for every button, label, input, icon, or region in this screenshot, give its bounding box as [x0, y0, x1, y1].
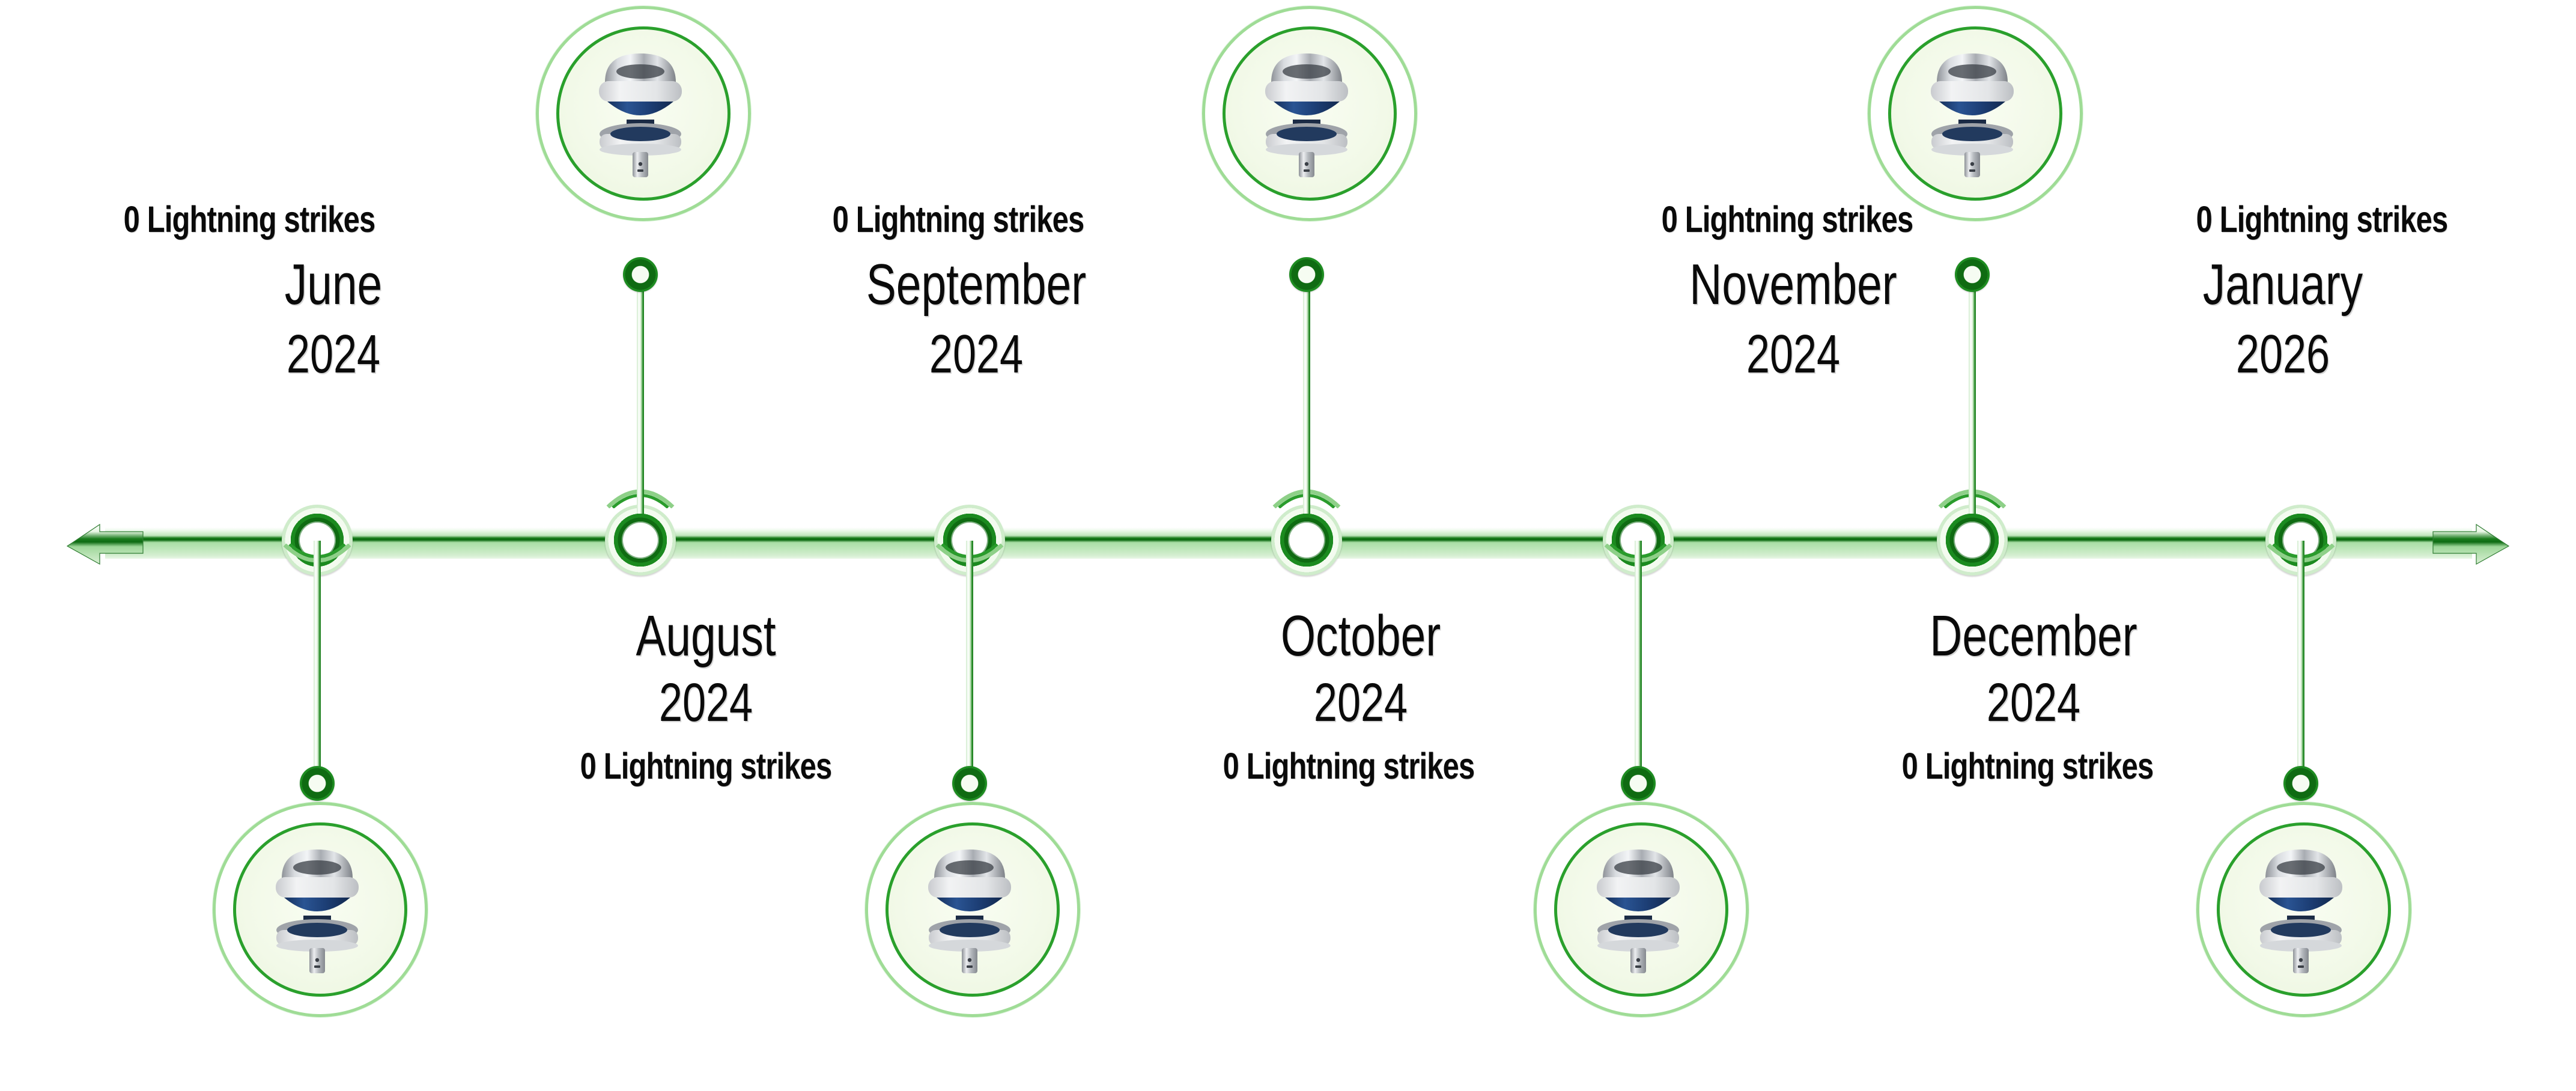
device-badge-jun-2024[interactable]: [213, 802, 422, 1011]
lightning-sensor-device-icon: [583, 44, 697, 177]
timeline-node-aug-2024[interactable]: [605, 505, 676, 576]
month-label-jun-2024: June: [73, 255, 594, 314]
connector-stem-aug-2024: [637, 273, 644, 514]
year-label-nov-2024: 2024: [1524, 327, 2063, 383]
lightning-sensor-device-icon: [1250, 44, 1364, 177]
connector-stem-nov-2024: [1635, 541, 1642, 781]
year-label-dec-2024: 2024: [1694, 676, 2374, 731]
month-label-aug-2024: August: [446, 607, 966, 666]
lightning-sensor-device-icon: [2244, 840, 2358, 973]
strikes-label-sep-2024: 0 Lightning strikes: [682, 198, 1235, 240]
year-label-sep-2024: 2024: [707, 327, 1246, 383]
timeline-node-oct-2024[interactable]: [1271, 505, 1342, 576]
lightning-sensor-device-icon: [1915, 44, 2029, 177]
device-badge-jan-2026[interactable]: [2196, 802, 2405, 1011]
connector-stem-jan-2026: [2297, 541, 2304, 781]
connector-stem-sep-2024: [966, 541, 973, 781]
connector-stem-oct-2024: [1303, 273, 1310, 514]
month-label-dec-2024: December: [1694, 607, 2374, 666]
strikes-label-oct-2024: 0 Lightning strikes: [1082, 745, 1615, 787]
connector-ring-oct-2024: [1289, 257, 1324, 292]
strikes-label-jan-2026: 0 Lightning strikes: [2113, 198, 2531, 240]
connector-ring-jan-2026: [2283, 766, 2318, 801]
year-label-aug-2024: 2024: [446, 676, 966, 731]
lightning-sensor-device-icon: [913, 840, 1027, 973]
month-label-jan-2026: January: [2049, 255, 2517, 314]
connector-ring-jun-2024: [300, 766, 335, 801]
strikes-label-aug-2024: 0 Lightning strikes: [439, 745, 973, 787]
lightning-sensor-device-icon: [260, 840, 374, 973]
timeline-infographic: 0 Lightning strikes June 2024: [0, 0, 2576, 1091]
device-badge-aug-2024[interactable]: [536, 6, 745, 215]
month-label-sep-2024: September: [707, 255, 1246, 314]
device-badge-nov-2024[interactable]: [1534, 802, 1743, 1011]
device-badge-dec-2024[interactable]: [1868, 6, 2077, 215]
connector-ring-nov-2024: [1621, 766, 1656, 801]
strikes-label-jun-2024: 0 Lightning strikes: [50, 198, 449, 240]
device-badge-oct-2024[interactable]: [1202, 6, 1411, 215]
device-badge-sep-2024[interactable]: [865, 802, 1074, 1011]
month-label-oct-2024: October: [1101, 607, 1621, 666]
strikes-label-dec-2024: 0 Lightning strikes: [1679, 745, 2376, 787]
lightning-sensor-device-icon: [1581, 840, 1695, 973]
connector-stem-jun-2024: [314, 541, 321, 781]
timeline-node-dec-2024[interactable]: [1937, 505, 2008, 576]
timeline-arrow-right-icon: [2432, 522, 2510, 565]
connector-ring-aug-2024: [623, 257, 658, 292]
year-label-oct-2024: 2024: [1101, 676, 1621, 731]
year-label-jun-2024: 2024: [73, 327, 594, 383]
connector-ring-sep-2024: [952, 766, 987, 801]
connector-ring-dec-2024: [1955, 257, 1990, 292]
timeline-arrow-left-icon: [66, 522, 144, 565]
connector-stem-dec-2024: [1969, 273, 1976, 514]
year-label-jan-2026: 2026: [2049, 327, 2517, 383]
